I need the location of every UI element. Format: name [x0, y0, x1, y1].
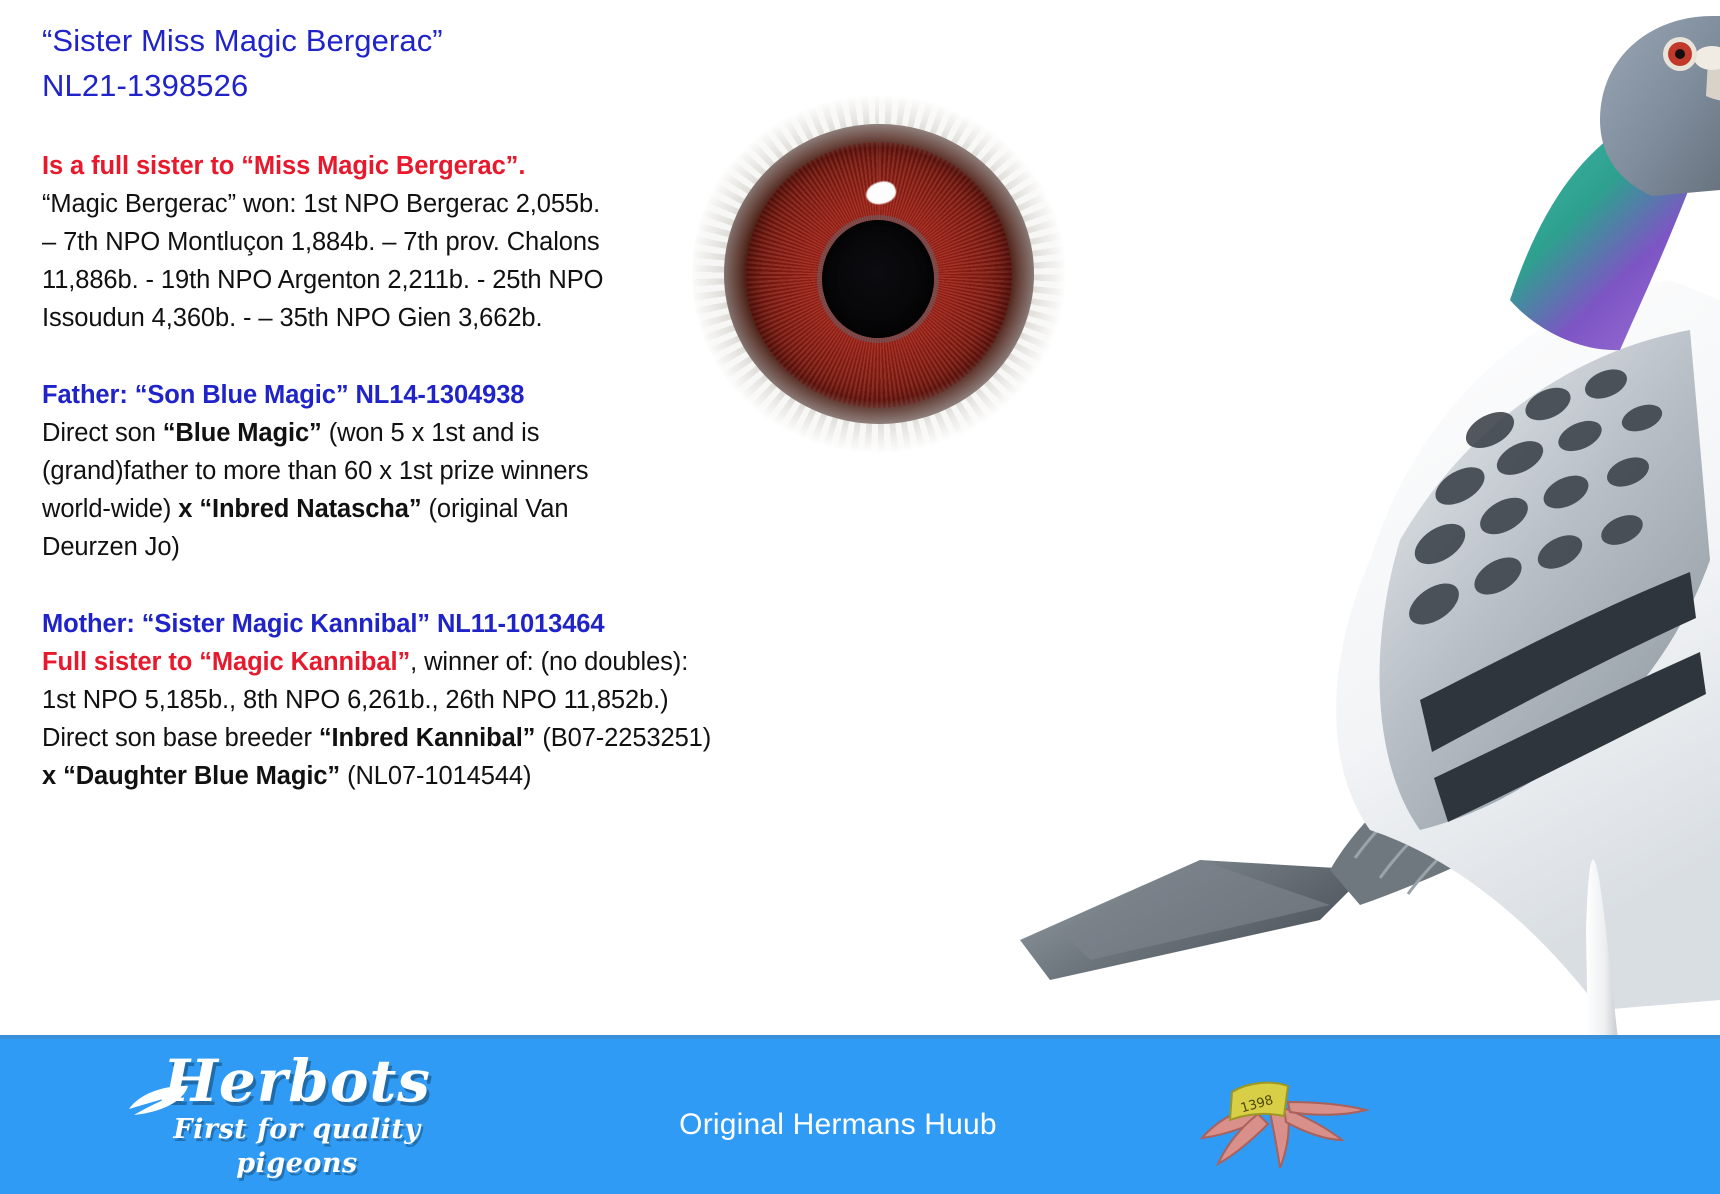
mother-subheading-bold: Full sister to “Magic Kannibal”: [42, 648, 410, 676]
herbots-logo[interactable]: Herbots First for quality pigeons: [132, 1049, 462, 1179]
pigeon-feet-with-ring: 1398: [1196, 1072, 1396, 1172]
pigeon-head: [1600, 16, 1720, 196]
footer-banner: Herbots First for quality pigeons Origin…: [0, 1035, 1720, 1194]
ring-number: NL21-1398526: [42, 63, 762, 108]
mother-line-3: x “Daughter Blue Magic” (NL07-1014544): [42, 757, 762, 795]
mother-line-1: 1st NPO 5,185b., 8th NPO 6,261b., 26th N…: [42, 681, 762, 719]
section-father: Father: “Son Blue Magic” NL14-1304938 Di…: [42, 376, 762, 566]
herbots-tagline: First for quality pigeons: [132, 1113, 462, 1181]
sister-info-heading: Is a full sister to “Miss Magic Bergerac…: [42, 147, 762, 185]
mother-heading: Mother: “Sister Magic Kannibal” NL11-101…: [42, 605, 762, 643]
sister-info-line-2: – 7th NPO Montluçon 1,884b. – 7th prov. …: [42, 223, 762, 261]
sister-info-line-1: “Magic Bergerac” won: 1st NPO Bergerac 2…: [42, 185, 762, 223]
banner-top-border: [0, 1035, 1720, 1039]
leg-ring-band: 1398: [1230, 1083, 1288, 1120]
section-mother: Mother: “Sister Magic Kannibal” NL11-101…: [42, 605, 762, 795]
mother-subheading: Full sister to “Magic Kannibal”, winner …: [42, 643, 762, 681]
original-breeder-label: Original Hermans Huub: [679, 1108, 997, 1142]
pigeon-illustration: [900, 0, 1720, 1120]
sister-info-line-4: Issoudun 4,360b. - – 35th NPO Gien 3,662…: [42, 299, 762, 337]
page-title: “Sister Miss Magic Bergerac”: [42, 18, 762, 63]
father-line-4: Deurzen Jo): [42, 528, 762, 566]
feather-icon: [126, 1083, 190, 1117]
father-line-1: Direct son “Blue Magic” (won 5 x 1st and…: [42, 414, 762, 452]
mother-bold-inbred-kannibal: “Inbred Kannibal”: [319, 724, 535, 752]
sister-info-line-3: 11,886b. - 19th NPO Argenton 2,211b. - 2…: [42, 261, 762, 299]
spacer: [42, 566, 762, 605]
father-line-2: (grand)father to more than 60 x 1st priz…: [42, 452, 762, 490]
father-heading: Father: “Son Blue Magic” NL14-1304938: [42, 376, 762, 414]
father-line-3: world-wide) x “Inbred Natascha” (origina…: [42, 490, 762, 528]
pigeon-eye-pupil: [1675, 49, 1685, 59]
pedigree-text-column: “Sister Miss Magic Bergerac” NL21-139852…: [42, 18, 762, 795]
father-bold-inbred-natascha: x “Inbred Natascha”: [178, 495, 421, 523]
feet-illustration: 1398: [1196, 1072, 1396, 1172]
spacer: [42, 337, 762, 376]
pedigree-card: “Sister Miss Magic Bergerac” NL21-139852…: [0, 0, 1720, 1194]
mother-subheading-rest: , winner of: (no doubles):: [410, 648, 688, 676]
mother-line-2: Direct son base breeder “Inbred Kannibal…: [42, 719, 762, 757]
section-sister-info: Is a full sister to “Miss Magic Bergerac…: [42, 147, 762, 337]
mother-bold-daughter-blue-magic: x “Daughter Blue Magic”: [42, 762, 340, 790]
spacer: [42, 108, 762, 147]
father-bold-blue-magic: “Blue Magic”: [163, 419, 322, 447]
pigeon-photo: [900, 0, 1720, 1120]
